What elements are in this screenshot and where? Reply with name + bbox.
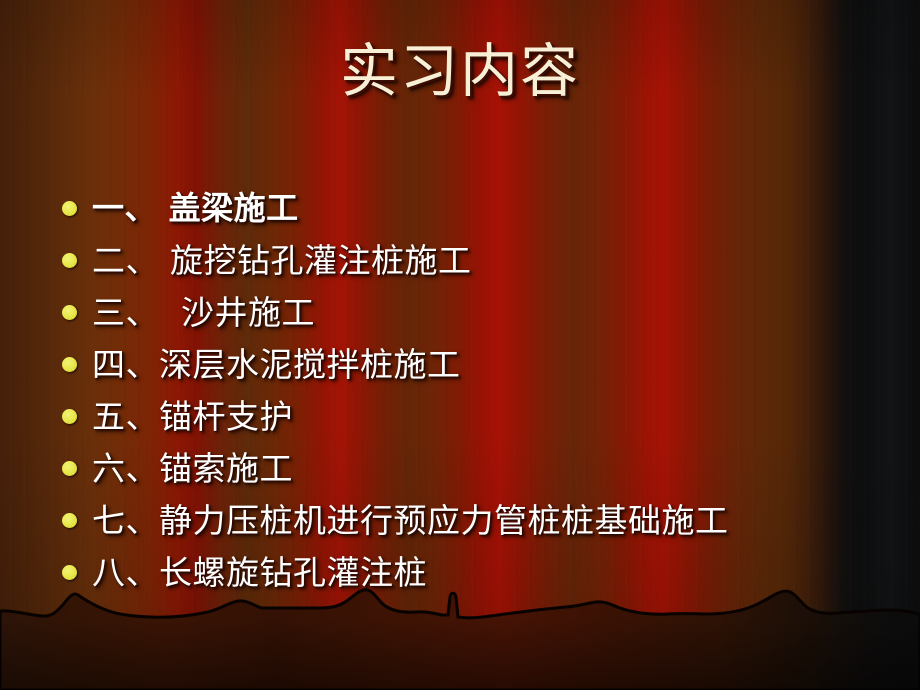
bullet-dot-icon: [62, 253, 77, 268]
list-item[interactable]: 三、 沙井施工: [62, 286, 902, 338]
bullet-dot-icon: [62, 513, 77, 528]
slide-title: 实习内容: [0, 40, 920, 103]
list-item[interactable]: 二、 旋挖钻孔灌注桩施工: [62, 234, 902, 286]
presentation-slide: 实习内容 一、 盖梁施工 二、 旋挖钻孔灌注桩施工 三、 沙井施工 四、深层水泥…: [0, 0, 920, 690]
list-item-label: 七、静力压桩机进行预应力管桩桩基础施工: [92, 504, 902, 537]
list-item[interactable]: 六、锚索施工: [62, 442, 902, 494]
list-item-label: 二、 旋挖钻孔灌注桩施工: [92, 244, 902, 277]
bullet-dot-icon: [62, 305, 77, 320]
list-item-label: 六、锚索施工: [92, 452, 902, 485]
list-item[interactable]: 四、深层水泥搅拌桩施工: [62, 338, 902, 390]
bullet-dot-icon: [62, 201, 77, 216]
slide-bullet-list: 一、 盖梁施工 二、 旋挖钻孔灌注桩施工 三、 沙井施工 四、深层水泥搅拌桩施工…: [62, 182, 902, 598]
list-item-label: 三、 沙井施工: [92, 296, 902, 329]
list-item-label: 四、深层水泥搅拌桩施工: [92, 348, 902, 381]
bullet-dot-icon: [62, 565, 77, 580]
list-item-label: 五、锚杆支护: [92, 400, 902, 433]
list-item-label: 一、 盖梁施工: [92, 192, 902, 224]
list-item[interactable]: 一、 盖梁施工: [62, 182, 902, 234]
list-item[interactable]: 五、锚杆支护: [62, 390, 902, 442]
list-item-label: 八、长螺旋钻孔灌注桩: [92, 556, 902, 589]
bullet-dot-icon: [62, 357, 77, 372]
list-item[interactable]: 八、长螺旋钻孔灌注桩: [62, 546, 902, 598]
bullet-dot-icon: [62, 461, 77, 476]
list-item[interactable]: 七、静力压桩机进行预应力管桩桩基础施工: [62, 494, 902, 546]
bullet-dot-icon: [62, 409, 77, 424]
